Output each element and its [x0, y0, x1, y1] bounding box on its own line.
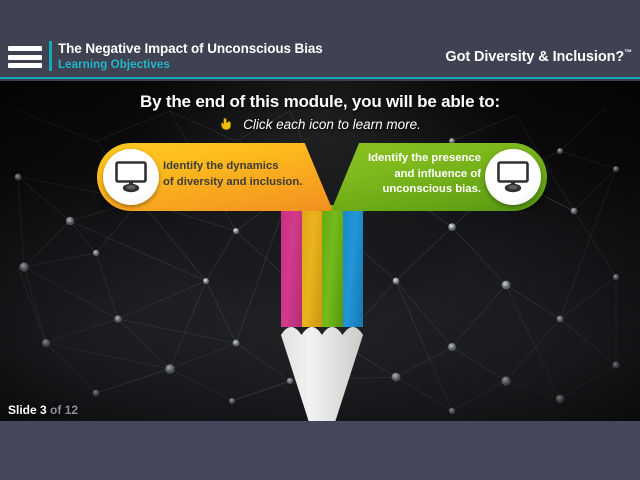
- objective-callout-left[interactable]: Identify the dynamics of diversity and i…: [97, 143, 333, 211]
- hamburger-bar: [8, 55, 42, 60]
- hamburger-menu-icon[interactable]: [8, 44, 42, 70]
- player-control-bar[interactable]: [0, 421, 640, 480]
- slide-current: Slide 3: [8, 403, 47, 417]
- callout-right-line3: unconscious bias.: [331, 182, 481, 198]
- slide-viewer: The Negative Impact of Unconscious Bias …: [0, 0, 640, 480]
- objective-icon-button-right[interactable]: [485, 149, 541, 205]
- brand-name: Got Diversity & Inclusion?: [445, 49, 624, 65]
- pointing-hand-icon: [219, 116, 236, 133]
- objective-callout-right[interactable]: Identify the presence and influence of u…: [331, 143, 547, 211]
- hamburger-bar: [8, 63, 42, 68]
- callout-left-text: Identify the dynamics of diversity and i…: [163, 159, 313, 190]
- pencil-barrels: [281, 205, 363, 327]
- header-divider: [49, 41, 52, 71]
- slide-total: of 12: [50, 403, 78, 417]
- four-color-pencil-graphic: [281, 205, 363, 421]
- callout-left-line2: of diversity and inclusion.: [163, 175, 313, 191]
- callout-right-text: Identify the presence and influence of u…: [331, 151, 481, 198]
- pencil-barrel-green: [322, 205, 343, 327]
- callout-right-line2: and influence of: [331, 167, 481, 183]
- objective-heading: By the end of this module, you will be a…: [0, 92, 640, 112]
- brand-logo-text: Got Diversity & Inclusion?™: [445, 48, 632, 65]
- objective-icon-button-left[interactable]: [103, 149, 159, 205]
- trademark-symbol: ™: [624, 48, 632, 57]
- course-header: The Negative Impact of Unconscious Bias …: [0, 0, 640, 79]
- header-title-group: The Negative Impact of Unconscious Bias …: [58, 40, 323, 73]
- instruction-text: Click each icon to learn more.: [243, 117, 421, 132]
- instruction-row: Click each icon to learn more.: [0, 116, 640, 133]
- pencil-barrel-blue: [343, 205, 364, 327]
- pencil-barrel-magenta: [281, 205, 302, 327]
- monitor-icon: [114, 161, 148, 193]
- pencil-barrel-gold: [302, 205, 323, 327]
- slide-counter: Slide 3 of 12: [8, 403, 78, 417]
- hamburger-bar: [8, 46, 42, 51]
- section-title[interactable]: Learning Objectives: [58, 58, 323, 73]
- callout-left-line1: Identify the dynamics: [163, 159, 313, 175]
- callout-right-line1: Identify the presence: [331, 151, 481, 167]
- monitor-icon: [496, 161, 530, 193]
- slide-canvas: By the end of this module, you will be a…: [0, 81, 640, 421]
- pencil-wood-tip: [281, 323, 363, 421]
- course-title: The Negative Impact of Unconscious Bias: [58, 40, 323, 57]
